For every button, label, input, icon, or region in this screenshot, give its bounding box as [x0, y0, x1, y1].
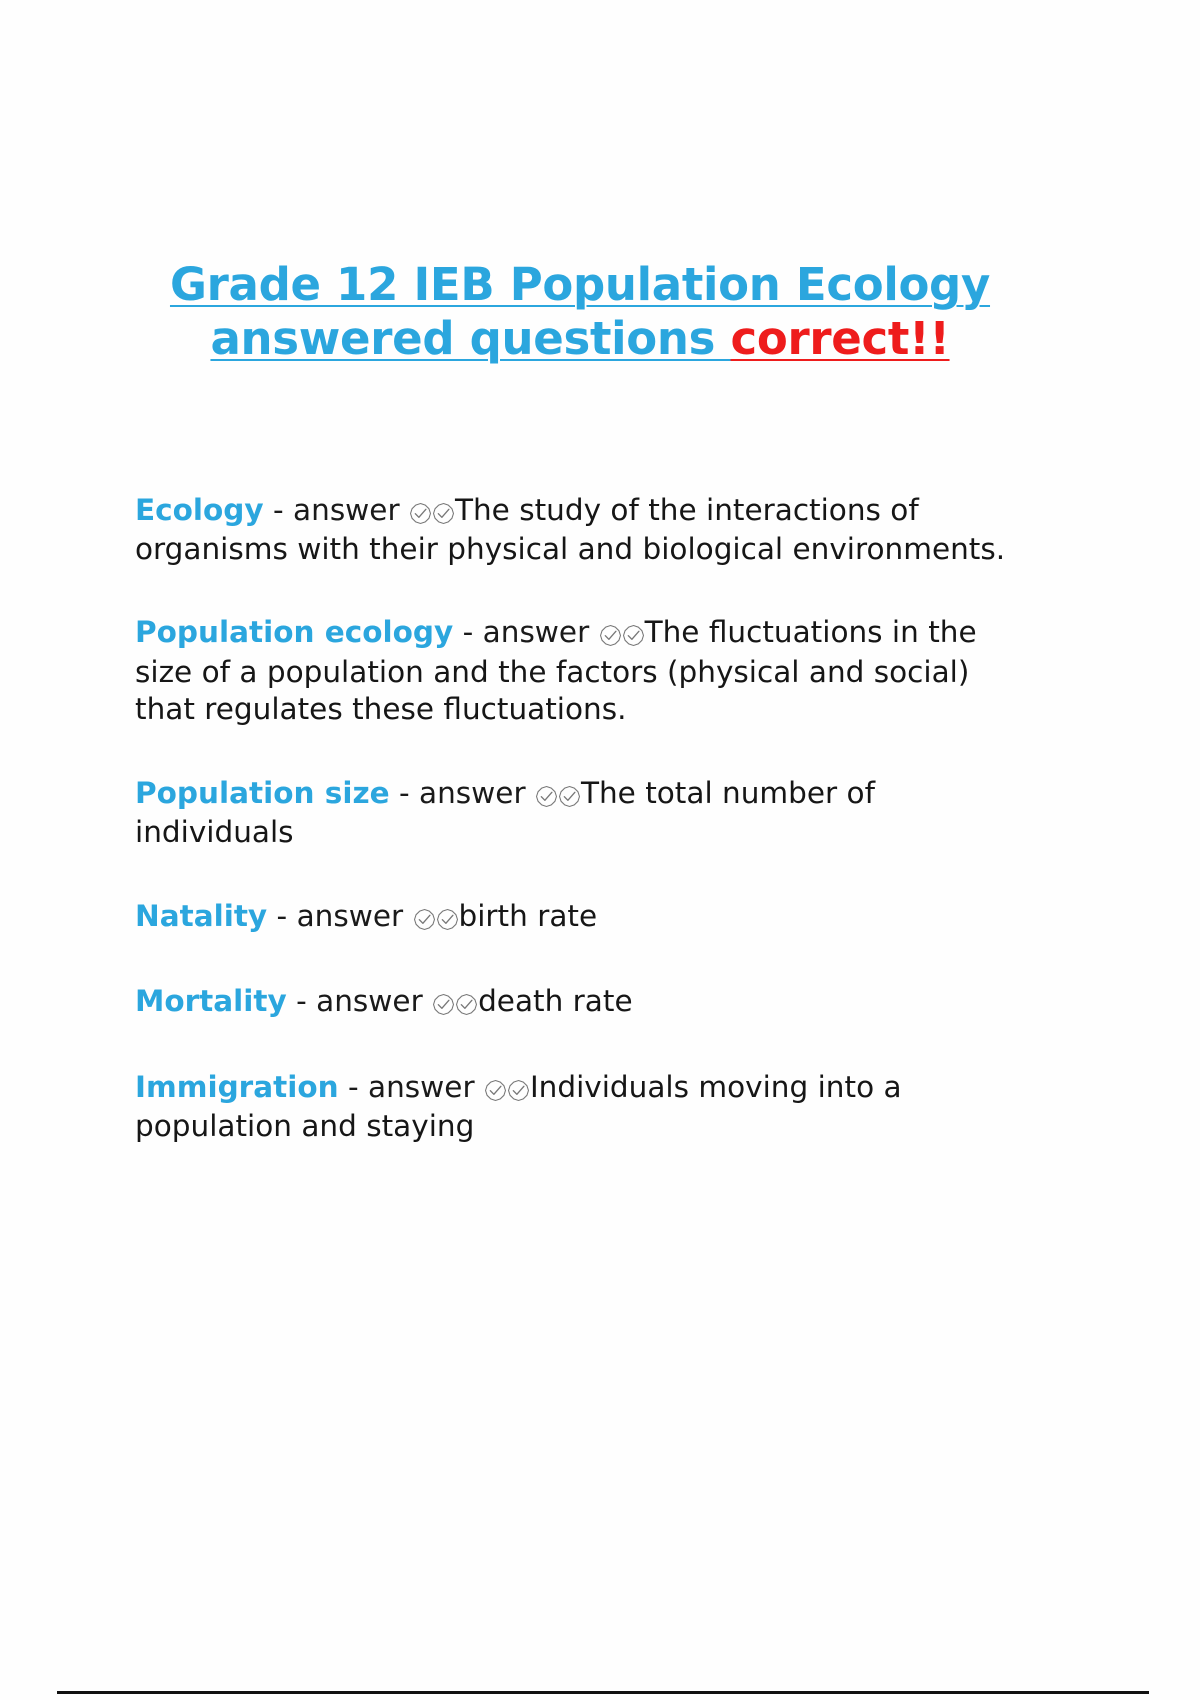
qa-term: Population size: [135, 776, 390, 810]
qa-list: Ecology - answer The study of the intera…: [135, 462, 1015, 1191]
check-marks: [413, 900, 459, 937]
page-bottom-rule: [57, 1691, 1149, 1694]
title-line-2: answered questions correct!!: [130, 312, 1030, 366]
check-mark-button-icon: [413, 908, 436, 931]
check-mark-button-icon: [507, 1079, 530, 1102]
check-mark-button-icon: [558, 785, 581, 808]
qa-entry: Natality - answer birth rate: [135, 898, 1015, 937]
qa-term: Mortality: [135, 984, 287, 1018]
qa-separator: - answer: [453, 615, 598, 649]
qa-entry: Population size - answer The total numbe…: [135, 775, 1015, 852]
check-mark-button-icon: [436, 908, 459, 931]
title-line-2-blue: answered questions: [210, 312, 730, 365]
check-mark-button-icon: [455, 993, 478, 1016]
check-mark-button-icon: [535, 785, 558, 808]
qa-separator: - answer: [390, 776, 535, 810]
check-marks: [484, 1071, 530, 1108]
check-marks: [432, 985, 478, 1022]
check-marks: [535, 777, 581, 814]
check-mark-button-icon: [409, 502, 432, 525]
check-mark-button-icon: [432, 993, 455, 1016]
qa-separator: - answer: [339, 1070, 484, 1104]
check-mark-button-icon: [484, 1079, 507, 1102]
check-mark-button-icon: [622, 624, 645, 647]
title-line-1: Grade 12 IEB Population Ecology: [130, 258, 1030, 312]
qa-term: Ecology: [135, 493, 264, 527]
qa-answer: death rate: [478, 984, 633, 1018]
check-marks: [599, 616, 645, 653]
qa-term: Population ecology: [135, 615, 453, 649]
qa-answer: birth rate: [459, 899, 598, 933]
check-mark-button-icon: [432, 502, 455, 525]
qa-term: Natality: [135, 899, 267, 933]
qa-separator: - answer: [267, 899, 412, 933]
check-mark-button-icon: [599, 624, 622, 647]
qa-entry: Ecology - answer The study of the intera…: [135, 492, 1015, 569]
qa-separator: - answer: [287, 984, 432, 1018]
document-page: Grade 12 IEB Population Ecology answered…: [0, 0, 1200, 1700]
check-marks: [409, 494, 455, 531]
qa-entry: Mortality - answer death rate: [135, 983, 1015, 1022]
qa-term: Immigration: [135, 1070, 339, 1104]
qa-entry: Population ecology - answer The fluctuat…: [135, 614, 1015, 728]
qa-separator: - answer: [264, 493, 409, 527]
qa-entry: Immigration - answer Individuals moving …: [135, 1069, 1015, 1146]
title-line-2-red: correct!!: [731, 312, 950, 365]
page-title: Grade 12 IEB Population Ecology answered…: [130, 258, 1030, 366]
